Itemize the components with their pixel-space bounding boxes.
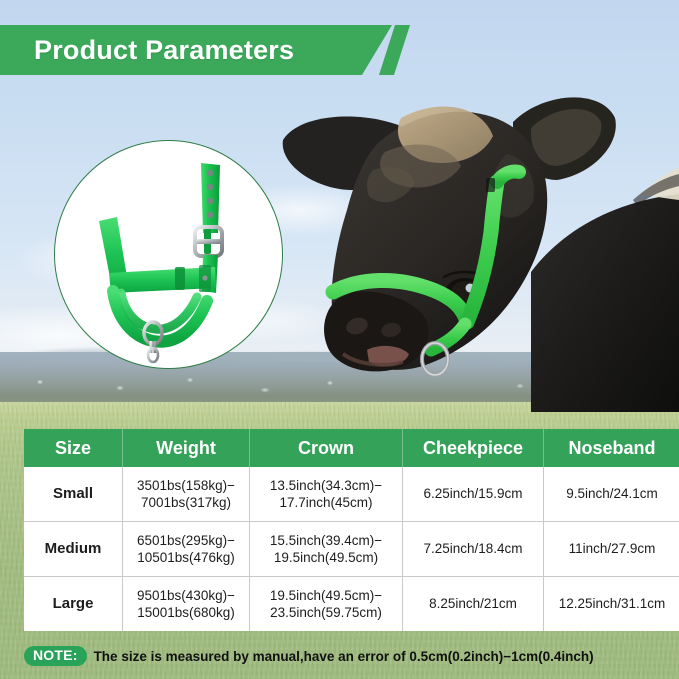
note-text: The size is measured by manual,have an e… — [94, 649, 594, 664]
cell-cheekpiece-medium: 7.25inch/18.4cm — [403, 522, 544, 577]
product-inset-circle — [54, 140, 283, 369]
cell-crown-large: 19.5inch(49.5cm)− 23.5inch(59.75cm) — [250, 577, 403, 632]
cell-crown-medium: 15.5inch(39.4cm)− 19.5inch(49.5cm) — [250, 522, 403, 577]
page-title: Product Parameters — [34, 35, 294, 66]
cell-weight-medium: 6501bs(295kg)− 10501bs(476kg) — [123, 522, 250, 577]
column-header-noseband: Noseband — [544, 429, 679, 467]
column-header-cheekpiece: Cheekpiece — [403, 429, 544, 467]
header-banner: Product Parameters — [0, 25, 392, 75]
column-header-size: Size — [24, 429, 123, 467]
note-row: NOTE: The size is measured by manual,hav… — [24, 643, 656, 669]
column-header-weight: Weight — [123, 429, 250, 467]
cell-noseband-large: 12.25inch/31.1cm — [544, 577, 679, 632]
cell-cheekpiece-large: 8.25inch/21cm — [403, 577, 544, 632]
cell-weight-small: 3501bs(158kg)− 7001bs(317kg) — [123, 467, 250, 522]
cell-cheekpiece-small: 6.25inch/15.9cm — [403, 467, 544, 522]
cell-size-large: Large — [24, 577, 123, 632]
specifications-table: Size Weight Crown Cheekpiece Noseband Sm… — [24, 429, 679, 631]
cell-size-small: Small — [24, 467, 123, 522]
table-row: Large 9501bs(430kg)− 15001bs(680kg) 19.5… — [24, 577, 679, 632]
cell-size-medium: Medium — [24, 522, 123, 577]
table-row: Medium 6501bs(295kg)− 10501bs(476kg) 15.… — [24, 522, 679, 577]
note-badge: NOTE: — [24, 646, 87, 666]
column-header-crown: Crown — [250, 429, 403, 467]
table-row: Small 3501bs(158kg)− 7001bs(317kg) 13.5i… — [24, 467, 679, 522]
cell-noseband-medium: 11inch/27.9cm — [544, 522, 679, 577]
product-parameters-infographic: Product Parameters — [0, 0, 679, 679]
cell-crown-small: 13.5inch(34.3cm)− 17.7inch(45cm) — [250, 467, 403, 522]
calf-photo — [281, 82, 679, 412]
table-header-row: Size Weight Crown Cheekpiece Noseband — [24, 429, 679, 467]
cell-weight-large: 9501bs(430kg)− 15001bs(680kg) — [123, 577, 250, 632]
cell-noseband-small: 9.5inch/24.1cm — [544, 467, 679, 522]
